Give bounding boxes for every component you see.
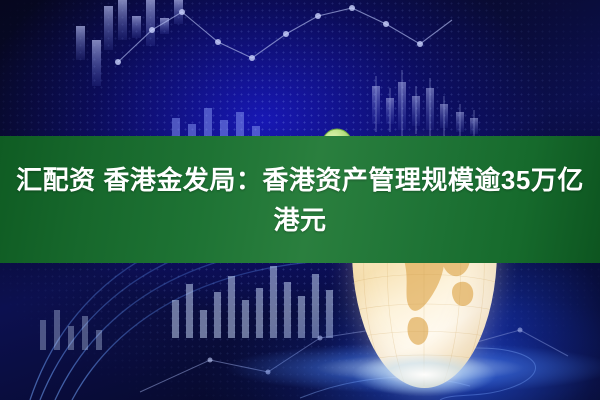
page-title: 汇配资 香港金发局：香港资产管理规模逾35万亿港元 [0, 160, 600, 240]
green-title-banner: 汇配资 香港金发局：香港资产管理规模逾35万亿港元 [0, 136, 600, 263]
screenshot-stage: $ $ 汇配资 香港金发局：香港资产管理规模逾35万亿港元 [0, 0, 600, 400]
globe-bottom-highlight [326, 334, 523, 400]
